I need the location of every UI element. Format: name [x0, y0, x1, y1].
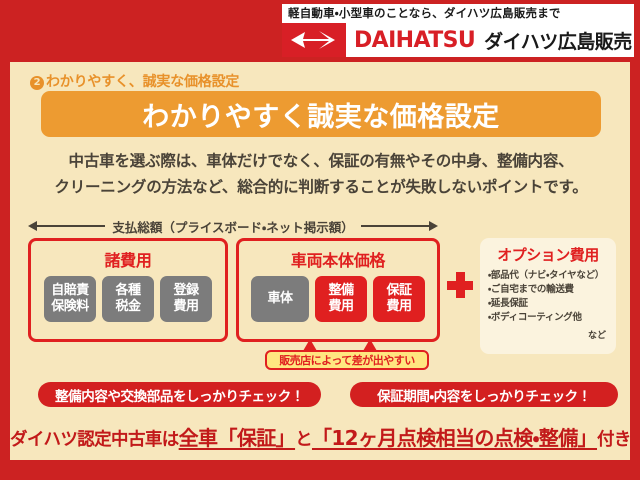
chip-taxes: 各種 税金	[102, 276, 154, 322]
chip-maintenance-fee: 整備 費用	[315, 276, 367, 322]
total-price-label: 支払総額（プライスボード・ネット掲示額）	[105, 217, 360, 236]
certified-used-car-statement: ダイハツ認定中古車は全車「保証」と「12ヶ月点検相当の点検・整備」付き	[10, 422, 630, 451]
vehicle-price-group: 車両本体価格 車体 整備 費用 保証 費用	[236, 238, 440, 342]
section-number-badge: 2	[30, 76, 44, 90]
dealer-logo-block: 軽自動車・小型車のことなら、ダイハツ広島販売まで DAIHATSU ダイハツ広島…	[282, 4, 634, 57]
misc-cost-chips: 自賠責 保険料 各種 税金 登録 費用	[31, 276, 225, 322]
misc-cost-title: 諸費用	[31, 247, 225, 271]
footer-conjunction: と	[295, 430, 312, 450]
arrow-left-icon	[28, 221, 37, 231]
chip-line-1: 保証	[386, 283, 411, 299]
content-panel: 2わかりやすく、誠実な価格設定 わかりやすく誠実な価格設定 中古車を選ぶ際は、車…	[10, 62, 630, 460]
list-item: ・ボディコーティング他	[488, 311, 608, 325]
dealer-variation-callout: 販売店によって差が出やすい	[265, 350, 429, 370]
daihatsu-emblem-icon	[282, 23, 346, 57]
brand-row: DAIHATSU ダイハツ広島販売	[282, 23, 634, 57]
chip-line-1: 各種	[115, 283, 140, 299]
section-subtitle: 2わかりやすく、誠実な価格設定	[30, 71, 239, 91]
body-line-1: 中古車を選ぶ際は、車体だけでなく、保証の有無やその中身、整備内容、	[38, 148, 604, 174]
footer-lead: ダイハツ認定中古車は	[10, 430, 179, 450]
vehicle-price-chips: 車体 整備 費用 保証 費用	[239, 276, 437, 322]
chip-vehicle-body: 車体	[251, 276, 309, 322]
chip-warranty-fee: 保証 費用	[373, 276, 425, 322]
check-warranty-pill: 保証期間・内容をしっかりチェック！	[350, 382, 618, 407]
banner-title: わかりやすく誠実な価格設定	[142, 95, 500, 134]
check-maintenance-pill: 整備内容や交換部品をしっかりチェック！	[38, 382, 321, 407]
footer-emphasis-inspection: 「12ヶ月点検相当の点検・整備」	[312, 426, 597, 450]
misc-cost-group: 諸費用 自賠責 保険料 各種 税金 登録 費用	[28, 238, 228, 342]
option-cost-title: オプション費用	[488, 244, 608, 265]
callout-text: 販売店によって差が出やすい	[279, 352, 415, 368]
chip-registration-fee: 登録 費用	[160, 276, 212, 322]
arrow-line-left	[37, 225, 105, 227]
brand-names: DAIHATSU ダイハツ広島販売	[346, 23, 634, 57]
chip-line-1: 車体	[267, 291, 292, 307]
footer-emphasis-warranty: 全車「保証」	[179, 426, 295, 450]
chip-line-2: 費用	[328, 299, 353, 315]
chip-line-1: 登録	[173, 283, 198, 299]
section-banner: わかりやすく誠実な価格設定	[41, 91, 601, 137]
plus-icon	[447, 272, 473, 298]
check-warranty-text: 保証期間・内容をしっかりチェック！	[377, 385, 591, 405]
option-cost-group: オプション費用 ・部品代（ナビ・タイヤなど） ・ご自宅までの輸送費 ・延長保証 …	[480, 238, 616, 354]
vehicle-price-title: 車両本体価格	[239, 247, 437, 271]
header-tagline: 軽自動車・小型車のことなら、ダイハツ広島販売まで	[282, 4, 634, 23]
total-price-span: 支払総額（プライスボード・ネット掲示額）	[28, 217, 438, 235]
option-etc-label: など	[488, 328, 608, 341]
option-list: ・部品代（ナビ・タイヤなど） ・ご自宅までの輸送費 ・延長保証 ・ボディコーティ…	[488, 269, 608, 325]
body-copy: 中古車を選ぶ際は、車体だけでなく、保証の有無やその中身、整備内容、 クリーニング…	[38, 148, 604, 200]
chip-line-1: 自賠責	[51, 283, 89, 299]
cost-breakdown: 諸費用 自賠責 保険料 各種 税金 登録 費用	[28, 238, 440, 342]
footer-tail: 付き	[597, 430, 631, 450]
brand-name-en: DAIHATSU	[354, 28, 475, 53]
header-bar: 軽自動車・小型車のことなら、ダイハツ広島販売まで DAIHATSU ダイハツ広島…	[0, 0, 640, 62]
body-line-2: クリーニングの方法など、総合的に判断することが失敗しないポイントです。	[38, 174, 604, 200]
check-maintenance-text: 整備内容や交換部品をしっかりチェック！	[55, 385, 304, 405]
list-item: ・ご自宅までの輸送費	[488, 283, 608, 297]
list-item: ・部品代（ナビ・タイヤなど）	[488, 269, 608, 283]
chip-compulsory-insurance: 自賠責 保険料	[44, 276, 96, 322]
chip-line-2: 費用	[173, 299, 198, 315]
infographic-root: 軽自動車・小型車のことなら、ダイハツ広島販売まで DAIHATSU ダイハツ広島…	[0, 0, 640, 480]
arrow-line-right	[361, 225, 429, 227]
chip-line-2: 税金	[115, 299, 140, 315]
chip-line-2: 費用	[386, 299, 411, 315]
section-subtitle-text: わかりやすく、誠実な価格設定	[46, 74, 239, 90]
list-item: ・延長保証	[488, 297, 608, 311]
brand-name-jp: ダイハツ広島販売	[484, 27, 632, 54]
chip-line-1: 整備	[328, 283, 353, 299]
chip-line-2: 保険料	[51, 299, 89, 315]
arrow-right-icon	[429, 221, 438, 231]
